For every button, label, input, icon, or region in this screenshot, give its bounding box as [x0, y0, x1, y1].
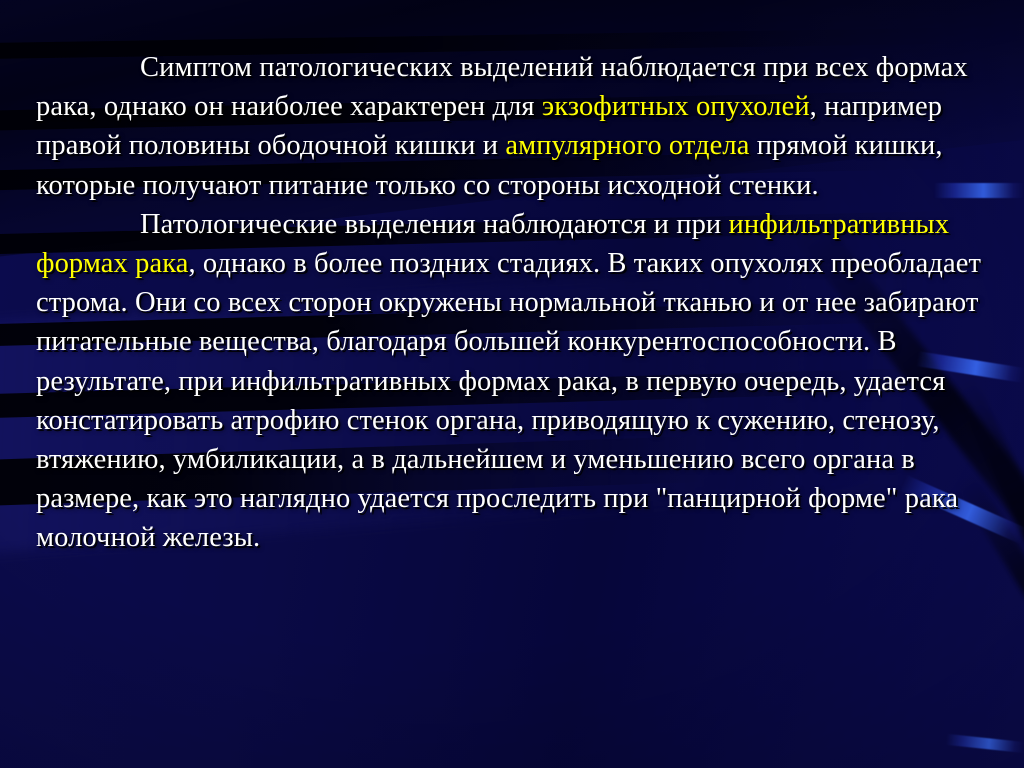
text-run: , однако в более поздних стадиях. В таки…: [36, 248, 988, 553]
text-run: Патологические выделения наблюдаются и п…: [140, 209, 729, 240]
highlighted-phrase: экзофитных опухолей: [542, 91, 810, 122]
paragraph-2: Патологические выделения наблюдаются и п…: [36, 205, 988, 558]
highlighted-phrase: ампулярного отдела: [505, 130, 749, 161]
accent-streak-icon: [946, 734, 1024, 753]
paragraph-1: Симптом патологических выделений наблюда…: [36, 48, 988, 205]
slide-body: Симптом патологических выделений наблюда…: [36, 48, 988, 558]
slide-canvas: Симптом патологических выделений наблюда…: [0, 0, 1024, 768]
